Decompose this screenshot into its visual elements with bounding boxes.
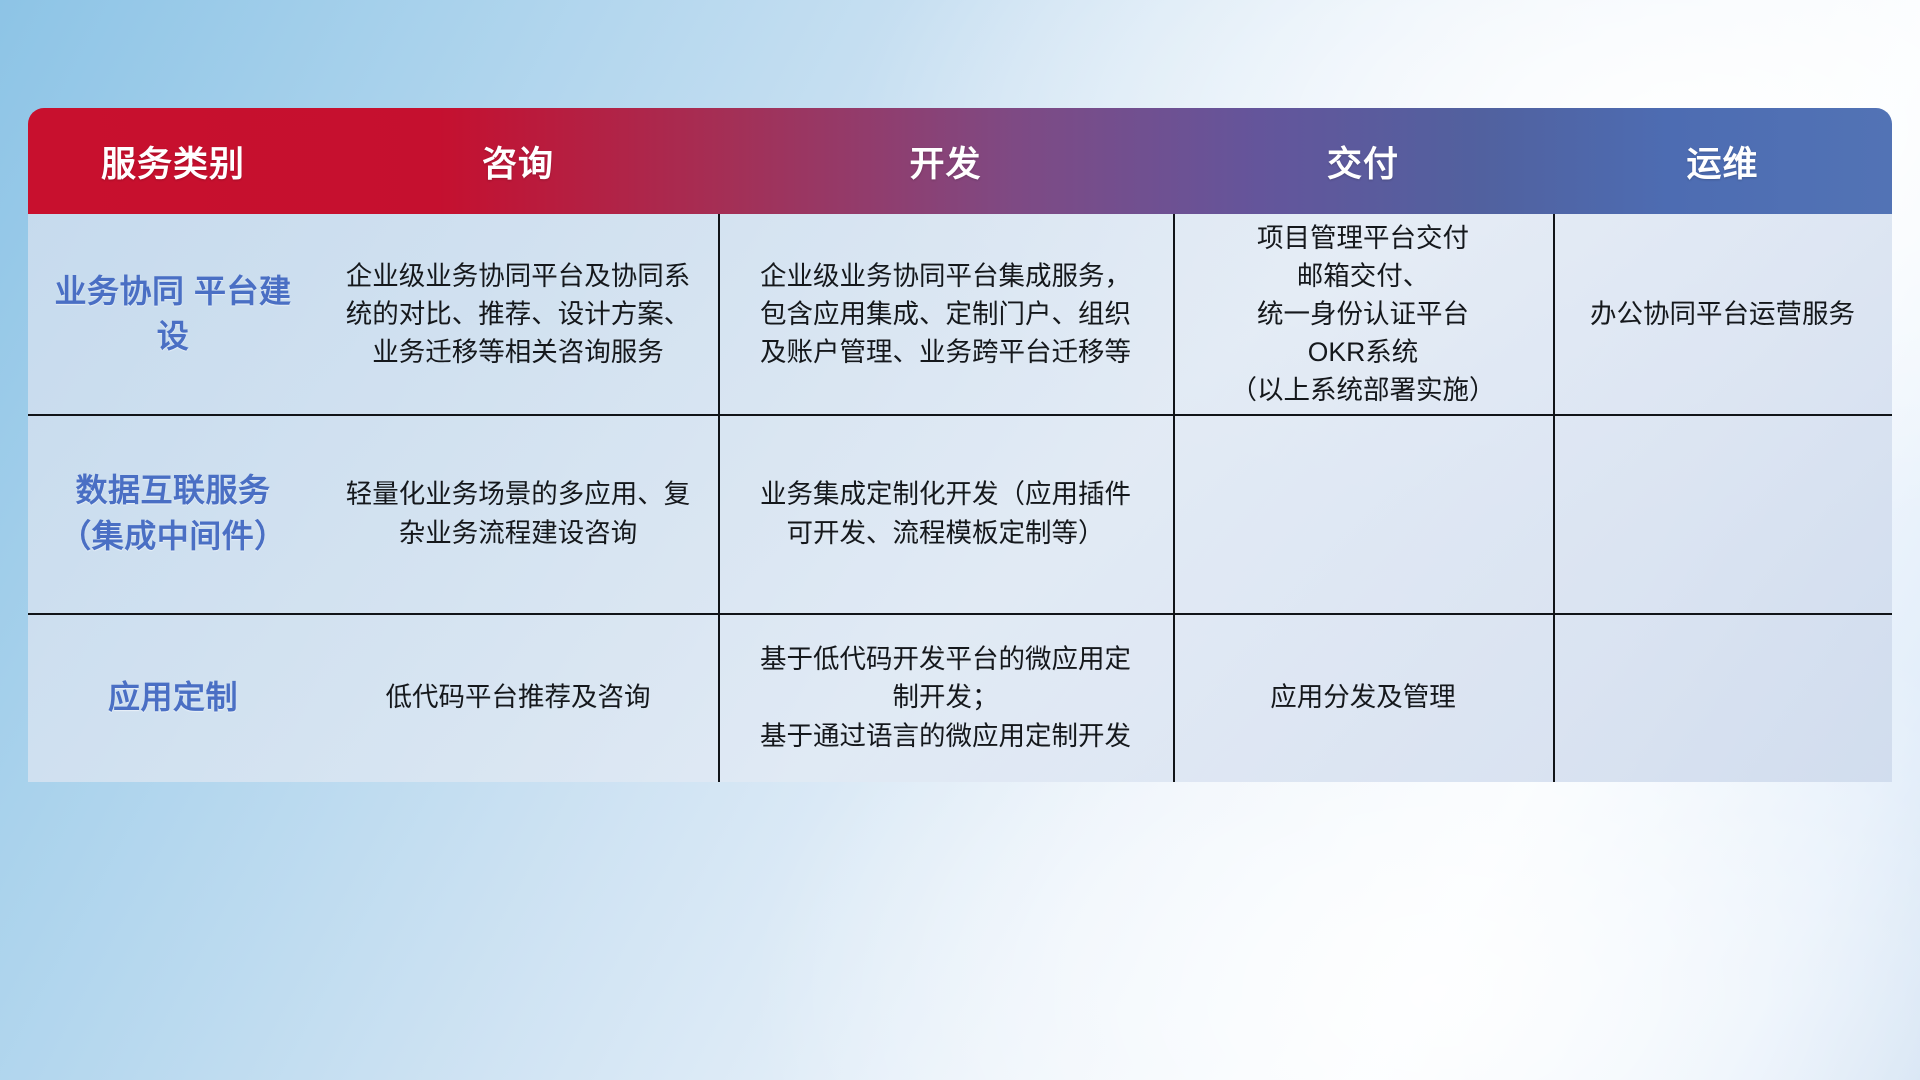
- row-label-text: 业务协同 平台建设: [42, 269, 304, 360]
- table-row: 业务协同 平台建设 企业级业务协同平台及协同系 统的对比、推荐、设计方案、 业务…: [28, 214, 1892, 414]
- column-divider-1: [718, 214, 720, 782]
- column-header-development: 开发: [718, 108, 1173, 214]
- cell-text: 办公协同平台运营服务: [1590, 295, 1855, 333]
- column-header-category: 服务类别: [28, 108, 318, 214]
- table-row: 应用定制 低代码平台推荐及咨询 基于低代码开发平台的微应用定 制开发； 基于通过…: [28, 613, 1892, 782]
- column-header-consulting: 咨询: [318, 108, 718, 214]
- row-label-text: 数据互联服务 （集成中间件）: [42, 468, 304, 559]
- cell-text: 低代码平台推荐及咨询: [386, 678, 651, 716]
- cell-operations: [1553, 414, 1892, 613]
- table-header-row: 服务类别 咨询 开发 交付 运维: [28, 108, 1892, 214]
- service-matrix-table: 服务类别 咨询 开发 交付 运维 业务协同 平台建设 企业级业务协同平台及协同系…: [28, 108, 1892, 782]
- column-divider-3: [1553, 214, 1555, 782]
- row-divider-2: [28, 613, 1892, 615]
- row-label-cell: 应用定制: [28, 613, 318, 782]
- cell-consulting: 轻量化业务场景的多应用、复 杂业务流程建设咨询: [318, 414, 718, 613]
- cell-development: 基于低代码开发平台的微应用定 制开发； 基于通过语言的微应用定制开发: [718, 613, 1173, 782]
- row-label-text: 应用定制: [108, 675, 238, 720]
- cell-operations: 办公协同平台运营服务: [1553, 214, 1892, 414]
- cell-text: 轻量化业务场景的多应用、复 杂业务流程建设咨询: [346, 475, 691, 551]
- cell-consulting: 企业级业务协同平台及协同系 统的对比、推荐、设计方案、 业务迁移等相关咨询服务: [318, 214, 718, 414]
- cell-text: 项目管理平台交付 邮箱交付、 统一身份认证平台 OKR系统 （以上系统部署实施）: [1231, 219, 1496, 410]
- cell-delivery: 应用分发及管理: [1173, 613, 1553, 782]
- column-header-delivery: 交付: [1173, 108, 1553, 214]
- column-header-operations: 运维: [1553, 108, 1892, 214]
- table-body: 业务协同 平台建设 企业级业务协同平台及协同系 统的对比、推荐、设计方案、 业务…: [28, 214, 1892, 782]
- cell-delivery: 项目管理平台交付 邮箱交付、 统一身份认证平台 OKR系统 （以上系统部署实施）: [1173, 214, 1553, 414]
- cell-delivery: [1173, 414, 1553, 613]
- cell-text: 应用分发及管理: [1270, 678, 1456, 716]
- row-label-cell: 业务协同 平台建设: [28, 214, 318, 414]
- column-divider-2: [1173, 214, 1175, 782]
- cell-text: 企业级业务协同平台及协同系 统的对比、推荐、设计方案、 业务迁移等相关咨询服务: [346, 257, 691, 371]
- cell-text: 基于低代码开发平台的微应用定 制开发； 基于通过语言的微应用定制开发: [760, 640, 1131, 754]
- row-label-cell: 数据互联服务 （集成中间件）: [28, 414, 318, 613]
- cell-text: 业务集成定制化开发（应用插件 可开发、流程模板定制等）: [760, 475, 1131, 551]
- cell-text: 企业级业务协同平台集成服务， 包含应用集成、定制门户、组织 及账户管理、业务跨平…: [760, 257, 1131, 371]
- row-divider-1: [28, 414, 1892, 416]
- cell-development: 业务集成定制化开发（应用插件 可开发、流程模板定制等）: [718, 414, 1173, 613]
- cell-consulting: 低代码平台推荐及咨询: [318, 613, 718, 782]
- cell-development: 企业级业务协同平台集成服务， 包含应用集成、定制门户、组织 及账户管理、业务跨平…: [718, 214, 1173, 414]
- table-row: 数据互联服务 （集成中间件） 轻量化业务场景的多应用、复 杂业务流程建设咨询 业…: [28, 414, 1892, 613]
- cell-operations: [1553, 613, 1892, 782]
